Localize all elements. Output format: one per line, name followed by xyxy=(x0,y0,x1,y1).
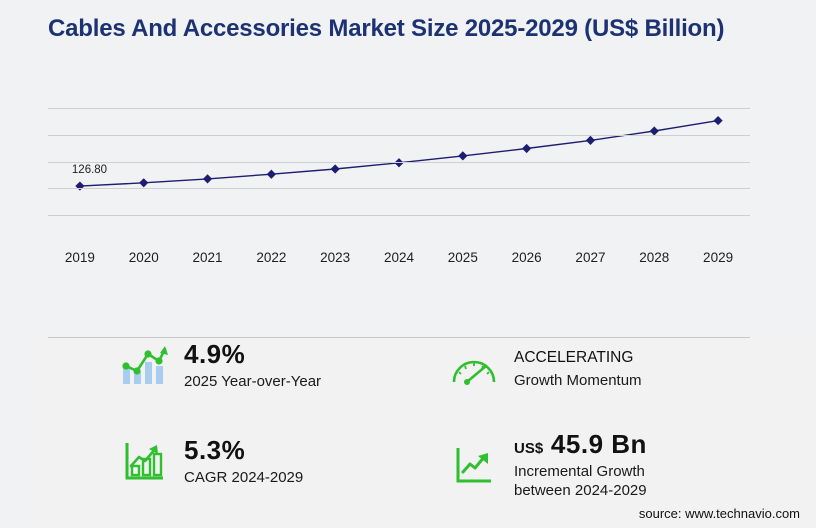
x-axis-tick-label: 2024 xyxy=(384,250,414,265)
kpi-value: 4.9% xyxy=(184,340,321,369)
x-axis-tick-label: 2020 xyxy=(129,250,159,265)
bottom-panel-gutter xyxy=(0,325,33,528)
kpi-text: ACCELERATING Growth Momentum xyxy=(514,348,642,390)
series-path xyxy=(80,121,718,187)
kpi-label: Incremental Growth between 2024-2029 xyxy=(514,462,647,500)
x-axis-tick-label: 2028 xyxy=(639,250,669,265)
line-arrow-growth-icon xyxy=(448,440,500,490)
kpi-headline: ACCELERATING xyxy=(514,348,642,368)
kpi-value: 5.3% xyxy=(184,436,303,465)
x-axis-tick-label: 2025 xyxy=(448,250,478,265)
kpi-amount: 45.9 Bn xyxy=(551,429,647,459)
line-chart: 126.80 201920202021202220232024202520262… xyxy=(0,95,816,280)
kpi-cagr: 5.3% CAGR 2024-2029 xyxy=(118,436,303,487)
x-axis-tick-label: 2023 xyxy=(320,250,350,265)
series-line xyxy=(48,108,750,242)
plot-area: 126.80 xyxy=(48,108,750,242)
source-text: source: www.technavio.com xyxy=(639,506,800,521)
kpi-text: 4.9% 2025 Year-over-Year xyxy=(184,340,321,391)
gridline xyxy=(48,162,750,163)
bar-line-growth-icon xyxy=(118,340,170,390)
infographic-root: Cables And Accessories Market Size 2025-… xyxy=(0,0,816,528)
kpi-growth-momentum: ACCELERATING Growth Momentum xyxy=(448,344,642,394)
gridline xyxy=(48,108,750,109)
data-point-marker xyxy=(394,158,403,167)
kpi-year-over-year: 4.9% 2025 Year-over-Year xyxy=(118,340,321,391)
kpi-label: 2025 Year-over-Year xyxy=(184,372,321,391)
kpi-label: CAGR 2024-2029 xyxy=(184,468,303,487)
data-point-marker xyxy=(458,151,467,160)
x-axis-line xyxy=(48,337,750,338)
kpi-unit: US$ xyxy=(514,440,543,457)
x-axis-tick-label: 2026 xyxy=(512,250,542,265)
kpi-value: US$ 45.9 Bn xyxy=(514,430,647,459)
bar-arrow-growth-icon xyxy=(118,436,170,486)
data-point-marker xyxy=(139,178,148,187)
kpi-text: US$ 45.9 Bn Incremental Growth between 2… xyxy=(514,430,647,500)
gridline xyxy=(48,215,750,216)
speedometer-icon xyxy=(448,344,500,394)
kpi-text: 5.3% CAGR 2024-2029 xyxy=(184,436,303,487)
x-axis-tick-label: 2027 xyxy=(575,250,605,265)
x-axis-tick-label: 2029 xyxy=(703,250,733,265)
data-point-marker xyxy=(713,116,722,125)
gridline xyxy=(48,135,750,136)
gridline xyxy=(48,188,750,189)
x-axis-labels: 2019202020212022202320242025202620272028… xyxy=(48,250,750,274)
data-point-marker xyxy=(267,170,276,179)
x-axis-tick-label: 2022 xyxy=(256,250,286,265)
data-label: 126.80 xyxy=(72,164,107,176)
kpi-incremental-growth: US$ 45.9 Bn Incremental Growth between 2… xyxy=(448,430,647,500)
page-title: Cables And Accessories Market Size 2025-… xyxy=(48,14,748,43)
x-axis-tick-label: 2019 xyxy=(65,250,95,265)
data-point-marker xyxy=(586,136,595,145)
x-axis-tick-label: 2021 xyxy=(193,250,223,265)
data-point-marker xyxy=(203,174,212,183)
kpi-label: Growth Momentum xyxy=(514,371,642,390)
data-point-marker xyxy=(522,144,531,153)
data-point-marker xyxy=(331,164,340,173)
